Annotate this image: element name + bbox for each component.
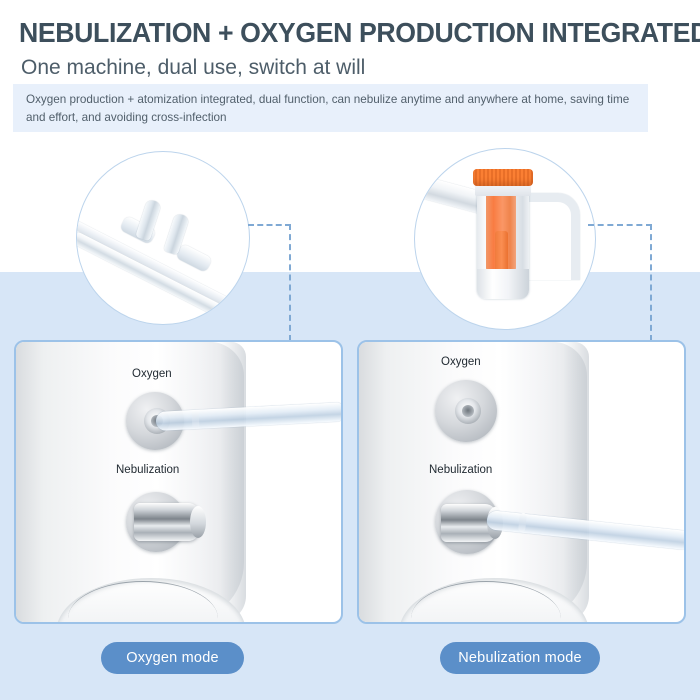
connector-line-left-vertical	[289, 224, 291, 341]
nebulizer-cup-photo	[414, 148, 596, 330]
cup-collar	[475, 185, 531, 196]
cannula-cuff-right	[175, 243, 213, 273]
connector-line-right-vertical	[650, 224, 652, 341]
port-label-oxygen-right: Oxygen	[441, 356, 481, 368]
nasal-cannula-photo	[76, 151, 250, 325]
cannula-prong-left	[135, 199, 162, 242]
port-label-oxygen-left: Oxygen	[132, 368, 172, 380]
cup-cap-icon	[473, 169, 533, 186]
nasal-cannula-icon	[77, 152, 249, 324]
port-label-nebulization-left: Nebulization	[116, 464, 179, 476]
page-subtitle: One machine, dual use, switch at will	[21, 55, 681, 81]
cup-elbow-icon	[527, 193, 580, 280]
description-text: Oxygen production + atomization integrat…	[26, 91, 635, 126]
caption-nebulization-mode[interactable]: Nebulization mode	[440, 642, 600, 674]
cup-base	[477, 269, 529, 299]
cannula-tube-upper	[76, 218, 244, 313]
nebulization-nozzle-left	[134, 503, 200, 541]
cannula-tube-main	[76, 231, 243, 325]
page-title: NEBULIZATION + OXYGEN PRODUCTION INTEGRA…	[19, 17, 659, 48]
port-hole-inner-oxygen-right	[462, 405, 474, 417]
connector-line-right-horizontal	[588, 224, 652, 226]
description-box: Oxygen production + atomization integrat…	[13, 84, 648, 132]
infographic-canvas: NEBULIZATION + OXYGEN PRODUCTION INTEGRA…	[0, 0, 700, 700]
cup-body-icon	[477, 179, 529, 299]
port-label-nebulization-right: Nebulization	[429, 464, 492, 476]
panel-oxygen-mode: Oxygen Nebulization	[14, 340, 343, 624]
connector-line-left-horizontal	[248, 224, 291, 226]
caption-oxygen-mode[interactable]: Oxygen mode	[101, 642, 244, 674]
panel-nebulization-mode: Oxygen Nebulization	[357, 340, 686, 624]
oxygen-tube-ring	[192, 410, 200, 429]
